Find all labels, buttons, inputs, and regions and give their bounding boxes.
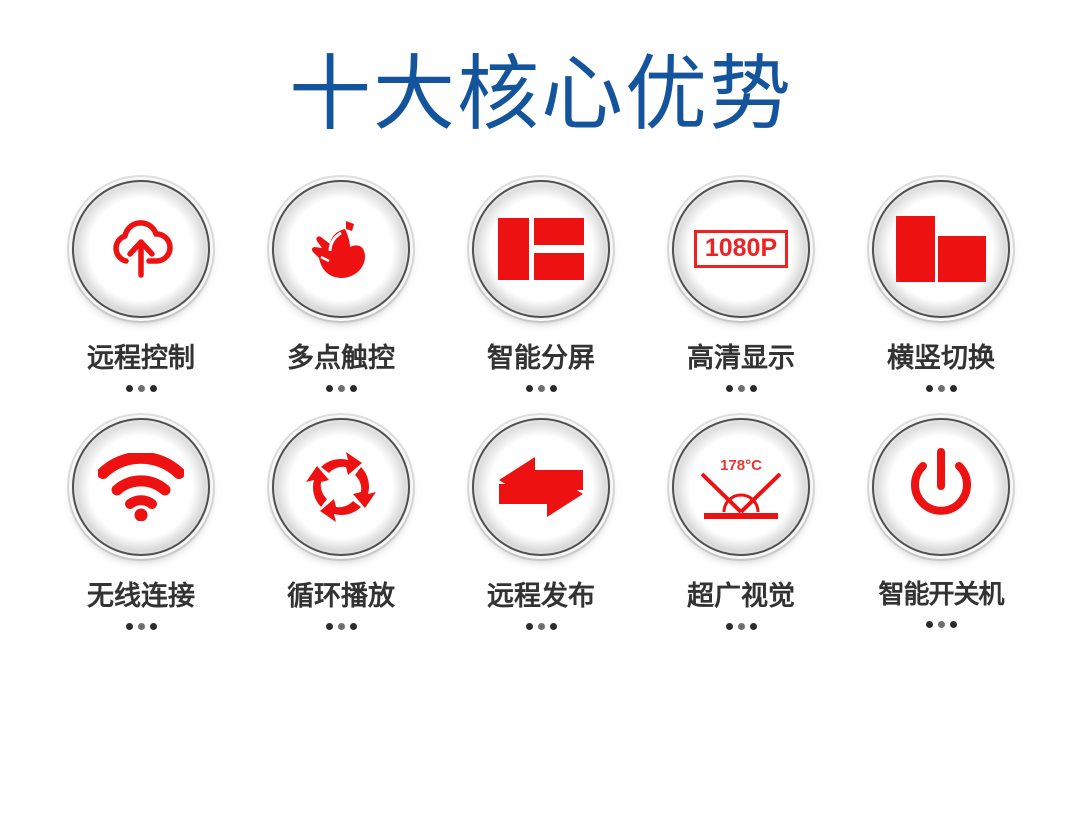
feature-dots <box>726 385 757 392</box>
feature-item-ultra-wide-vision[interactable]: 178°C 超广视觉 <box>641 418 841 630</box>
feature-label: 超广视觉 <box>687 574 795 613</box>
viewing-angle-icon: 178°C <box>694 450 788 524</box>
feature-item-multi-touch[interactable]: 多点触控 <box>241 180 441 392</box>
feature-grid: 远程控制 多点触控 <box>0 180 1082 630</box>
feature-item-remote-control[interactable]: 远程控制 <box>41 180 241 392</box>
wifi-icon <box>98 453 184 521</box>
feature-dots <box>926 385 957 392</box>
feature-medallion[interactable] <box>472 180 610 318</box>
feature-item-wireless-connection[interactable]: 无线连接 <box>41 418 241 630</box>
feature-medallion[interactable] <box>72 180 210 318</box>
cloud-upload-icon <box>101 209 181 289</box>
feature-medallion[interactable]: 1080P <box>672 180 810 318</box>
feature-medallion[interactable] <box>872 418 1010 556</box>
feature-dots <box>126 385 157 392</box>
split-screen-icon <box>498 218 584 280</box>
loop-arrows-icon <box>299 445 383 529</box>
page-title: 十大核心优势 <box>0 0 1082 136</box>
feature-label: 横竖切换 <box>887 336 995 375</box>
feature-item-hd-display[interactable]: 1080P 高清显示 <box>641 180 841 392</box>
feature-row-2: 无线连接 <box>0 418 1082 630</box>
hand-touch-icon <box>301 209 381 289</box>
feature-label: 高清显示 <box>687 336 795 375</box>
feature-label: 循环播放 <box>287 574 395 613</box>
power-button-icon <box>901 446 981 528</box>
feature-label: 多点触控 <box>287 336 395 375</box>
feature-dots <box>326 385 357 392</box>
feature-row-1: 远程控制 多点触控 <box>0 180 1082 392</box>
feature-dots <box>526 623 557 630</box>
feature-item-smart-split-screen[interactable]: 智能分屏 <box>441 180 641 392</box>
feature-medallion[interactable] <box>472 418 610 556</box>
feature-medallion[interactable] <box>272 418 410 556</box>
feature-medallion[interactable] <box>272 180 410 318</box>
feature-dots <box>526 385 557 392</box>
viewing-angle-label: 178°C <box>720 457 762 474</box>
feature-medallion[interactable]: 178°C <box>672 418 810 556</box>
feature-label: 远程控制 <box>87 336 195 375</box>
portrait-landscape-icon <box>896 216 986 282</box>
feature-label: 无线连接 <box>87 574 195 613</box>
feature-dots <box>726 623 757 630</box>
feature-item-loop-playback[interactable]: 循环播放 <box>241 418 441 630</box>
feature-label: 远程发布 <box>487 574 595 613</box>
feature-medallion[interactable] <box>72 418 210 556</box>
feature-item-remote-publishing[interactable]: 远程发布 <box>441 418 641 630</box>
feature-label: 智能分屏 <box>487 336 595 375</box>
feature-item-smart-power[interactable]: 智能开关机 <box>841 418 1041 630</box>
feature-dots <box>926 621 957 628</box>
feature-dots <box>326 623 357 630</box>
feature-dots <box>126 623 157 630</box>
bidirectional-arrows-icon <box>495 456 587 518</box>
resolution-badge-icon: 1080P <box>694 230 788 267</box>
feature-label: 智能开关机 <box>878 574 1003 611</box>
feature-item-orientation-switch[interactable]: 横竖切换 <box>841 180 1041 392</box>
feature-medallion[interactable] <box>872 180 1010 318</box>
